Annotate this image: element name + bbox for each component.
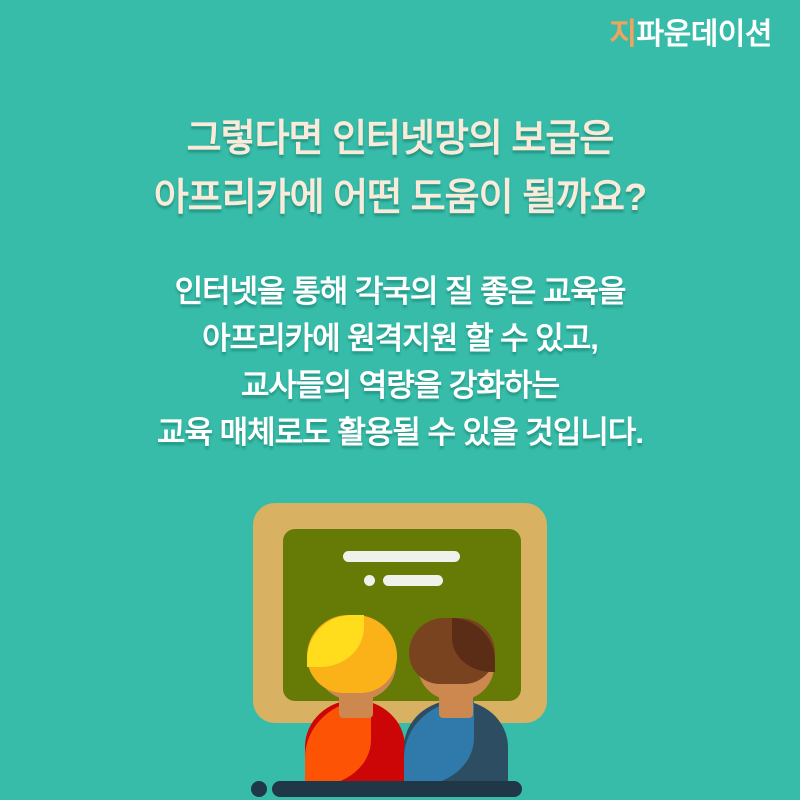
copy-block: 그렇다면 인터넷망의 보급은 아프리카에 어떤 도움이 될까요? 인터넷을 통해… [0, 110, 800, 456]
headline-line-2: 아프리카에 어떤 도움이 될까요? [40, 169, 760, 228]
brand-logo: 지파운데이션 [609, 20, 772, 50]
desk-bar-icon [272, 781, 522, 797]
promo-card: 지파운데이션 그렇다면 인터넷망의 보급은 아프리카에 어떤 도움이 될까요? … [0, 0, 800, 800]
headline-line-1: 그렇다면 인터넷망의 보급은 [40, 110, 760, 169]
chalk-line-long-icon [343, 551, 460, 562]
copy-spacer [40, 228, 760, 268]
body-line-4: 교육 매체로도 활용될 수 있을 것입니다. [40, 409, 760, 456]
body-line-1: 인터넷을 통해 각국의 질 좋은 교육을 [40, 268, 760, 315]
body-line-2: 아프리카에 원격지원 할 수 있고, [40, 315, 760, 362]
chalk-line-short-icon [383, 575, 443, 586]
body-line-3: 교사들의 역량을 강화하는 [40, 362, 760, 409]
brand-logo-mark: 지 [609, 18, 636, 51]
chalk-dot-icon [364, 575, 375, 586]
brand-logo-word: 파운데이션 [637, 18, 773, 51]
desk-dot-icon [251, 781, 267, 797]
